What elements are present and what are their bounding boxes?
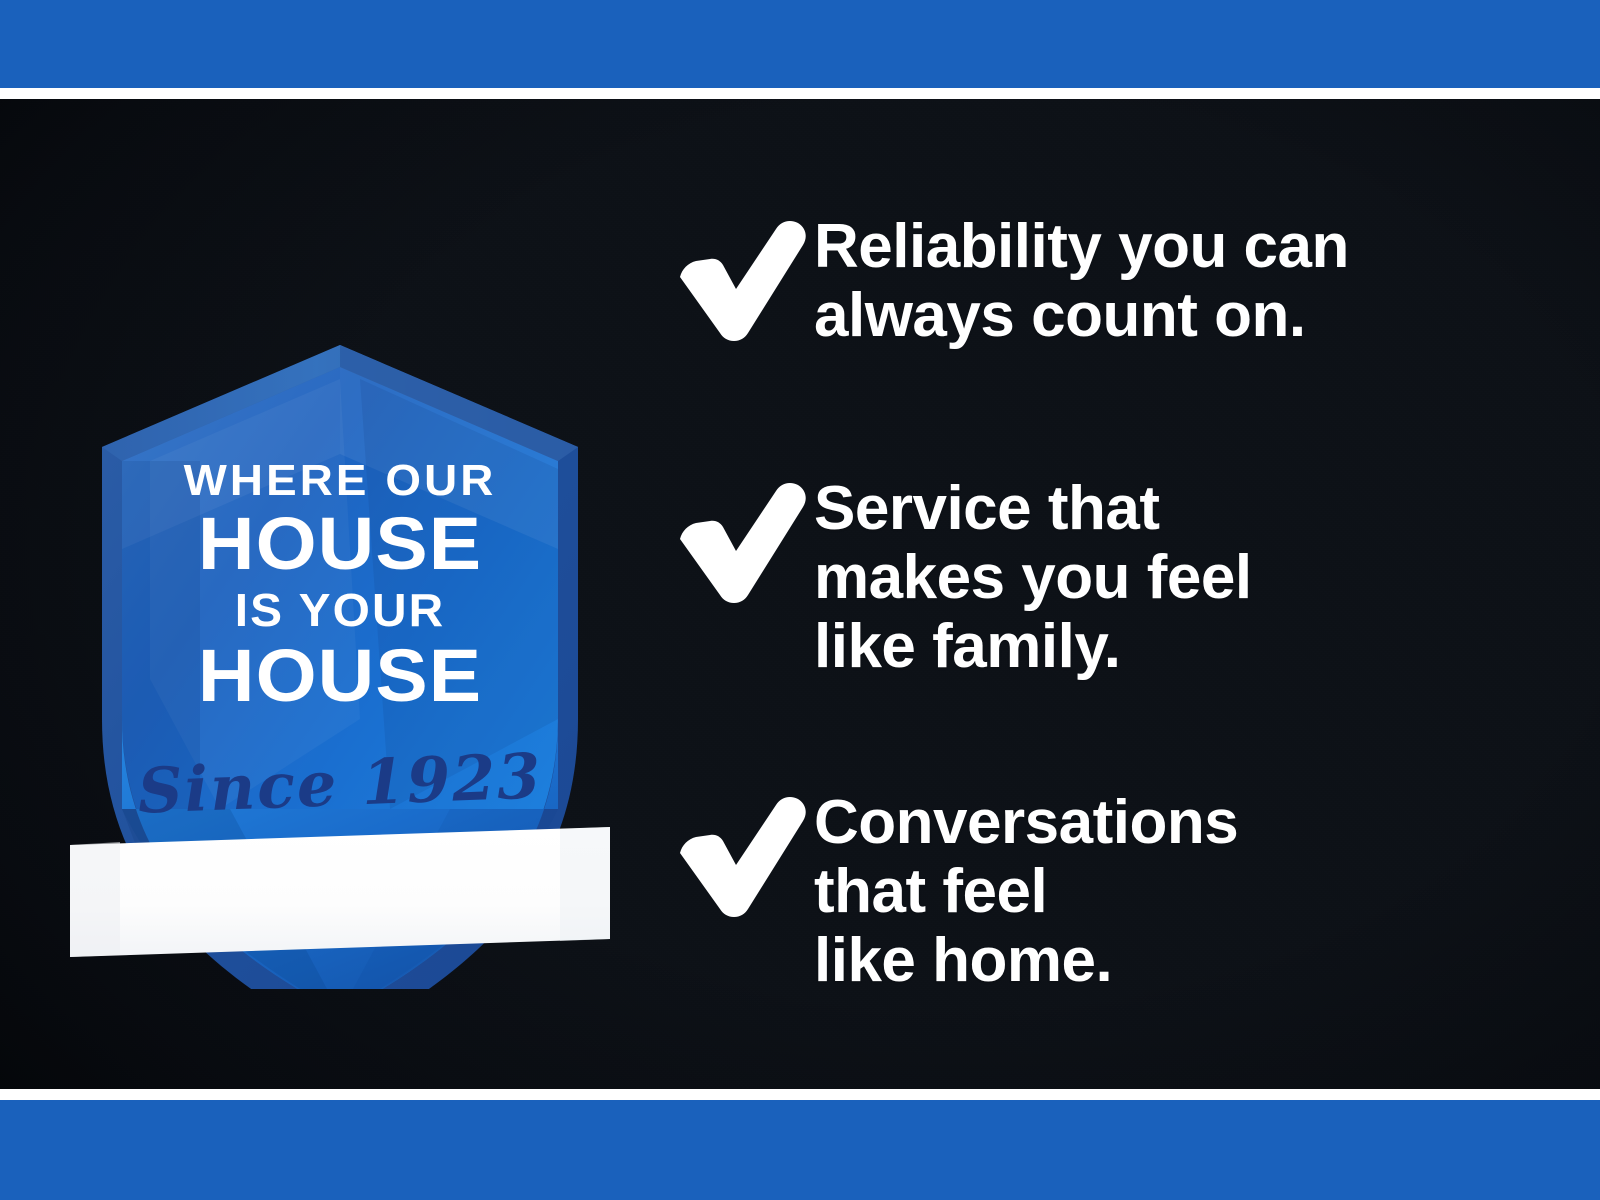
shield-logo: WHERE OUR HOUSE IS YOUR HOUSE Since 1923 [60,249,620,989]
checkmark-icon [672,477,814,609]
checkmark-icon [672,215,814,347]
top-brand-bar [0,0,1600,88]
shield-ribbon [70,827,610,957]
list-item-text: Service that makes you feel like family. [814,471,1552,681]
list-item: Conversations that feel like home. [672,785,1552,995]
list-item: Service that makes you feel like family. [672,471,1552,681]
list-item-text: Conversations that feel like home. [814,785,1552,995]
promo-banner: WHERE OUR HOUSE IS YOUR HOUSE Since 1923… [0,0,1600,1200]
list-item-text: Reliability you can always count on. [814,209,1552,351]
bottom-white-rule [0,1089,1600,1100]
content-stage: WHERE OUR HOUSE IS YOUR HOUSE Since 1923… [0,99,1600,1100]
list-item: Reliability you can always count on. [672,209,1552,351]
bottom-brand-bar [0,1100,1600,1200]
benefits-list: Reliability you can always count on. Ser… [672,209,1552,1089]
top-white-rule [0,88,1600,99]
checkmark-icon [672,791,814,923]
